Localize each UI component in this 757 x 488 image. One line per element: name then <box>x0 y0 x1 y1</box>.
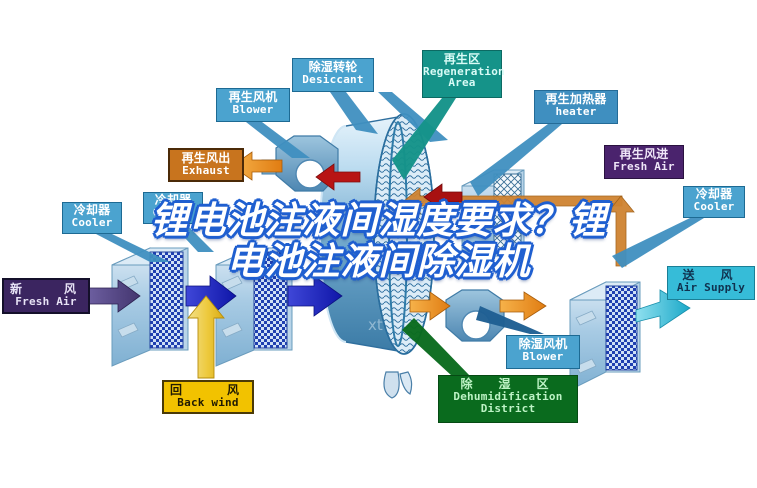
callout-back-wind-cn: 回 风 <box>164 384 252 397</box>
callout-exhaust[interactable]: 再生风出 Exhaust <box>168 148 244 182</box>
callout-desiccant[interactable]: 除湿转轮 Desiccant <box>292 58 374 92</box>
callout-dehum-area-en: Dehumidification District <box>439 391 577 414</box>
callout-regen-fresh-air-en: Fresh Air <box>605 161 683 173</box>
callout-supply-air-en: Air Supply <box>668 282 754 294</box>
svg-text:xt: xt <box>368 316 383 334</box>
callout-dehum-blower-en: Blower <box>507 351 579 363</box>
callout-dehum-area-cn: 除 湿 区 <box>439 378 577 391</box>
precooler-coil-2 <box>216 248 292 366</box>
callout-regen-heater[interactable]: 再生加热器 heater <box>534 90 618 124</box>
callout-fresh-air-in[interactable]: 新 风 Fresh Air <box>2 278 90 314</box>
aftercooler-coil <box>570 282 640 390</box>
callout-dehum-blower-cn: 除湿风机 <box>507 338 579 351</box>
schematic-svg: xt <box>0 0 757 488</box>
callout-back-wind[interactable]: 回 风 Back wind <box>162 380 254 414</box>
callout-exhaust-en: Exhaust <box>170 165 242 177</box>
callout-regen-fresh-air[interactable]: 再生风进 Fresh Air <box>604 145 684 179</box>
callout-cooler-right-cn: 冷却器 <box>684 188 744 201</box>
diagram-canvas: xt <box>0 0 757 488</box>
callout-cooler-right-en: Cooler <box>684 201 744 213</box>
callout-regen-blower[interactable]: 再生风机 Blower <box>216 88 290 122</box>
dry-air-arrow-2 <box>500 292 546 320</box>
callout-regen-blower-en: Blower <box>217 104 289 116</box>
callout-regen-area-cn: 再生区 <box>423 53 501 66</box>
callout-fresh-air-in-cn: 新 风 <box>4 283 88 296</box>
callout-supply-air[interactable]: 送 风 Air Supply <box>667 266 755 300</box>
callout-regen-area[interactable]: 再生区 Regeneration Area <box>422 50 502 98</box>
callout-cooler-right[interactable]: 冷却器 Cooler <box>683 186 745 218</box>
callout-dehum-area[interactable]: 除 湿 区 Dehumidification District <box>438 375 578 423</box>
callout-desiccant-cn: 除湿转轮 <box>293 61 373 74</box>
callout-cooler-left[interactable]: 冷却器 Cooler <box>62 202 122 234</box>
callout-regen-area-en: Regeneration Area <box>423 66 501 88</box>
callout-desiccant-en: Desiccant <box>293 74 373 86</box>
callout-fresh-air-in-en: Fresh Air <box>4 296 88 308</box>
callout-regen-heater-cn: 再生加热器 <box>535 93 617 106</box>
callout-exhaust-cn: 再生风出 <box>170 152 242 165</box>
callout-regen-blower-cn: 再生风机 <box>217 91 289 104</box>
callout-cooler-left-2[interactable]: 冷却器 Cooler <box>143 192 203 224</box>
callout-cooler-left-2-cn: 冷却器 <box>144 194 202 207</box>
callout-regen-heater-en: heater <box>535 106 617 118</box>
callout-cooler-left-2-en: Cooler <box>144 207 202 219</box>
regen-heater-coil <box>462 170 524 272</box>
callout-cooler-left-en: Cooler <box>63 217 121 229</box>
callout-cooler-left-cn: 冷却器 <box>63 204 121 217</box>
callout-dehum-blower[interactable]: 除湿风机 Blower <box>506 335 580 369</box>
callout-supply-air-cn: 送 风 <box>668 269 754 282</box>
callout-back-wind-en: Back wind <box>164 397 252 409</box>
callout-regen-fresh-air-cn: 再生风进 <box>605 148 683 161</box>
